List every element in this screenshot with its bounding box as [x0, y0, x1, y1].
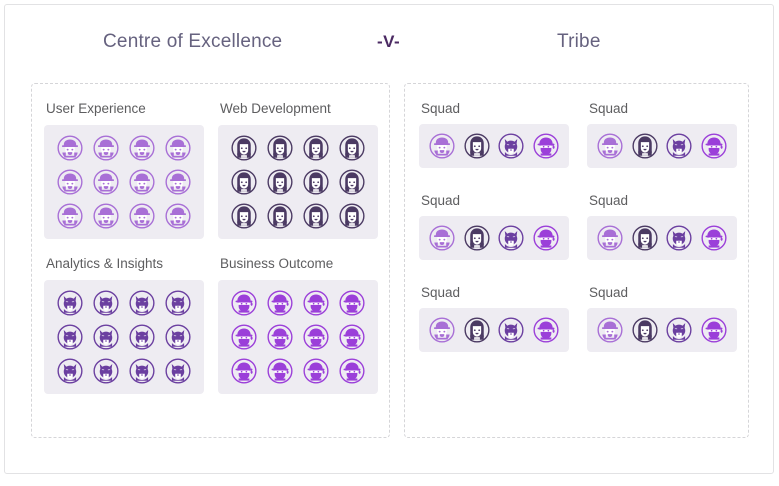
- avatar-cap-icon: [597, 317, 623, 343]
- avatar-longhair-icon: [267, 169, 293, 195]
- avatar-ninja-icon: [303, 290, 329, 316]
- header-row: Centre of Excellence -V- Tribe: [5, 31, 775, 65]
- avatar-cap-icon: [57, 135, 83, 161]
- avatar-longhair-icon: [339, 169, 365, 195]
- squad-title: Squad: [421, 101, 569, 116]
- avatar-ninja-icon: [533, 225, 559, 251]
- avatar-cap-icon: [597, 133, 623, 159]
- avatar-longhair-icon: [464, 317, 490, 343]
- avatar-cat-icon: [666, 317, 692, 343]
- squad-title: Squad: [589, 193, 737, 208]
- avatar-cat-icon: [498, 133, 524, 159]
- avatar-ninja-icon: [533, 317, 559, 343]
- avatar-cat-icon: [498, 225, 524, 251]
- squad-avatar-card: [419, 216, 569, 260]
- avatar-ninja-icon: [267, 290, 293, 316]
- avatar-cap-icon: [597, 225, 623, 251]
- page-title-centre-of-excellence: Centre of Excellence: [103, 31, 282, 53]
- avatar-ninja-icon: [267, 358, 293, 384]
- squad-avatar-card: [587, 124, 737, 168]
- coe-avatar-card: [218, 125, 378, 239]
- avatar-cap-icon: [57, 203, 83, 229]
- squad-avatar-card: [419, 124, 569, 168]
- versus-separator: -V-: [377, 32, 400, 52]
- avatar-longhair-icon: [464, 225, 490, 251]
- avatar-longhair-icon: [339, 203, 365, 229]
- coe-group-title: Business Outcome: [220, 256, 378, 271]
- avatar-cat-icon: [57, 324, 83, 350]
- avatar-cap-icon: [129, 135, 155, 161]
- avatar-cap-icon: [93, 203, 119, 229]
- squad-group: Squad: [419, 188, 569, 260]
- avatar-cat-icon: [498, 317, 524, 343]
- avatar-cap-icon: [57, 169, 83, 195]
- avatar-ninja-icon: [701, 225, 727, 251]
- squad-grid: SquadSquadSquadSquadSquadSquad: [419, 96, 737, 372]
- coe-group: Analytics & Insights: [44, 251, 204, 394]
- avatar-ninja-icon: [231, 324, 257, 350]
- coe-group: Business Outcome: [218, 251, 378, 394]
- avatar-cat-icon: [165, 290, 191, 316]
- avatar-cat-icon: [93, 290, 119, 316]
- squad-group: Squad: [587, 188, 737, 260]
- avatar-cat-icon: [129, 358, 155, 384]
- squad-title: Squad: [589, 101, 737, 116]
- avatar-ninja-icon: [303, 324, 329, 350]
- avatar-cat-icon: [165, 324, 191, 350]
- avatar-cat-icon: [129, 290, 155, 316]
- squad-avatar-card: [587, 216, 737, 260]
- avatar-longhair-icon: [303, 203, 329, 229]
- coe-group: User Experience: [44, 96, 204, 239]
- avatar-cat-icon: [129, 324, 155, 350]
- squad-group: Squad: [587, 280, 737, 352]
- avatar-ninja-icon: [339, 358, 365, 384]
- avatar-cat-icon: [93, 358, 119, 384]
- avatar-ninja-icon: [231, 358, 257, 384]
- avatar-cat-icon: [93, 324, 119, 350]
- coe-group: Web Development: [218, 96, 378, 239]
- coe-avatar-card: [44, 125, 204, 239]
- avatar-cap-icon: [129, 203, 155, 229]
- avatar-longhair-icon: [231, 135, 257, 161]
- diagram-frame: Centre of Excellence -V- Tribe User Expe…: [4, 4, 774, 474]
- squad-avatar-card: [419, 308, 569, 352]
- avatar-longhair-icon: [267, 203, 293, 229]
- centre-of-excellence-panel: User ExperienceWeb DevelopmentAnalytics …: [31, 83, 390, 438]
- avatar-cat-icon: [57, 290, 83, 316]
- avatar-cat-icon: [666, 225, 692, 251]
- avatar-longhair-icon: [464, 133, 490, 159]
- avatar-longhair-icon: [632, 133, 658, 159]
- avatar-longhair-icon: [231, 203, 257, 229]
- coe-group-title: Analytics & Insights: [46, 256, 204, 271]
- avatar-ninja-icon: [231, 290, 257, 316]
- avatar-ninja-icon: [267, 324, 293, 350]
- avatar-cap-icon: [93, 135, 119, 161]
- coe-avatar-card: [44, 280, 204, 394]
- avatar-ninja-icon: [339, 290, 365, 316]
- page-title-tribe: Tribe: [557, 31, 601, 53]
- avatar-cap-icon: [93, 169, 119, 195]
- squad-title: Squad: [421, 193, 569, 208]
- squad-group: Squad: [419, 280, 569, 352]
- coe-group-grid: User ExperienceWeb DevelopmentAnalytics …: [44, 96, 379, 406]
- avatar-longhair-icon: [231, 169, 257, 195]
- avatar-longhair-icon: [267, 135, 293, 161]
- tribe-panel: SquadSquadSquadSquadSquadSquad: [404, 83, 749, 438]
- squad-group: Squad: [419, 96, 569, 168]
- avatar-ninja-icon: [303, 358, 329, 384]
- squad-title: Squad: [589, 285, 737, 300]
- avatar-ninja-icon: [533, 133, 559, 159]
- avatar-ninja-icon: [339, 324, 365, 350]
- avatar-cat-icon: [165, 358, 191, 384]
- avatar-cap-icon: [165, 135, 191, 161]
- avatar-longhair-icon: [303, 169, 329, 195]
- avatar-cap-icon: [165, 169, 191, 195]
- squad-group: Squad: [587, 96, 737, 168]
- squad-title: Squad: [421, 285, 569, 300]
- avatar-cap-icon: [429, 225, 455, 251]
- avatar-longhair-icon: [632, 225, 658, 251]
- avatar-cat-icon: [666, 133, 692, 159]
- avatar-ninja-icon: [701, 133, 727, 159]
- coe-avatar-card: [218, 280, 378, 394]
- avatar-cat-icon: [57, 358, 83, 384]
- squad-avatar-card: [587, 308, 737, 352]
- avatar-cap-icon: [165, 203, 191, 229]
- avatar-longhair-icon: [339, 135, 365, 161]
- coe-group-title: User Experience: [46, 101, 204, 116]
- avatar-cap-icon: [429, 317, 455, 343]
- avatar-ninja-icon: [701, 317, 727, 343]
- coe-group-title: Web Development: [220, 101, 378, 116]
- avatar-longhair-icon: [632, 317, 658, 343]
- avatar-cap-icon: [129, 169, 155, 195]
- avatar-cap-icon: [429, 133, 455, 159]
- avatar-longhair-icon: [303, 135, 329, 161]
